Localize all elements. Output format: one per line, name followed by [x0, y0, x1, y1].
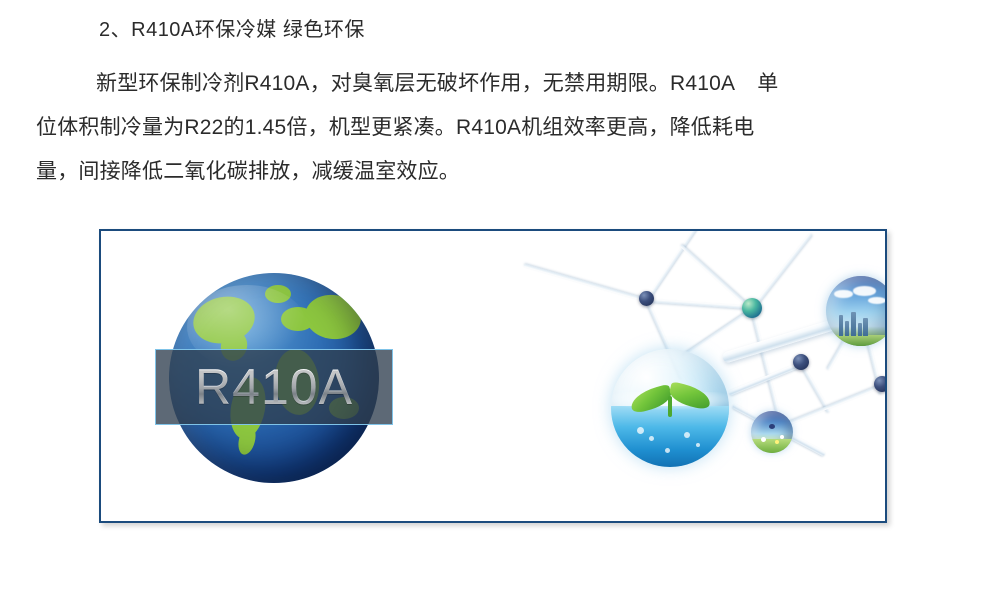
- city-tower: [851, 312, 857, 336]
- paragraph-line-2: 位体积制冷量为R22的1.45倍，机型更紧凑。R410A机组效率更高，降低耗电: [28, 106, 963, 150]
- meadow-butterfly: [769, 424, 775, 429]
- city-tower: [845, 321, 849, 336]
- meadow-flower: [775, 440, 779, 444]
- rod-node1-toteal: [647, 299, 755, 310]
- node-dark-upper-left: [639, 291, 654, 306]
- continent-asia: [302, 291, 364, 342]
- rod-teal-topleft: [680, 244, 753, 310]
- paragraph-line-1: 新型环保制冷剂R410A，对臭氧层无破坏作用，无禁用期限。R410A单: [28, 62, 963, 106]
- cloud-shape: [868, 297, 886, 304]
- rod-node1-topleft: [524, 264, 648, 302]
- r410a-banner: R410A: [155, 349, 393, 425]
- continent-greenland: [265, 285, 291, 303]
- city-tower: [863, 318, 868, 336]
- eco-sphere-network: [461, 241, 881, 521]
- cloud-shape: [834, 290, 852, 298]
- water-bubble: [684, 432, 690, 438]
- paragraph-line-3: 量，间接降低二氧化碳排放，减缓温室效应。: [28, 150, 963, 194]
- sphere-eco-sprout: [611, 349, 729, 467]
- city-tower: [839, 315, 844, 336]
- figure-canvas: R410A: [101, 231, 885, 521]
- r410a-banner-label: R410A: [191, 362, 357, 412]
- section-heading: 2、R410A环保冷媒 绿色环保: [99, 16, 365, 44]
- node-teal-center: [742, 298, 762, 318]
- meadow-grass: [751, 439, 793, 453]
- paragraph-line-1-tail: 单: [757, 72, 778, 95]
- sprout-stem: [668, 396, 673, 417]
- rod-teal-topright: [751, 233, 812, 310]
- paragraph-line-1-text: 新型环保制冷剂R410A，对臭氧层无破坏作用，无禁用期限。R410A: [96, 72, 735, 95]
- cloud-shape: [853, 286, 877, 296]
- sphere-meadow: [751, 411, 793, 453]
- node-dark-lower-right: [874, 376, 887, 392]
- figure-panel: R410A: [99, 229, 887, 523]
- city-tower: [858, 323, 862, 336]
- body-paragraph: 新型环保制冷剂R410A，对臭氧层无破坏作用，无禁用期限。R410A单 位体积制…: [28, 62, 963, 194]
- page-root: 2、R410A环保冷媒 绿色环保 新型环保制冷剂R410A，对臭氧层无破坏作用，…: [0, 0, 990, 610]
- r410a-globe-logo: R410A: [169, 273, 379, 483]
- rod-node4-tomeadow: [779, 384, 882, 428]
- node-dark-center-right: [793, 354, 809, 370]
- city-ground: [826, 335, 887, 346]
- water-bubble: [637, 427, 644, 434]
- sphere-city-sky: [826, 276, 887, 346]
